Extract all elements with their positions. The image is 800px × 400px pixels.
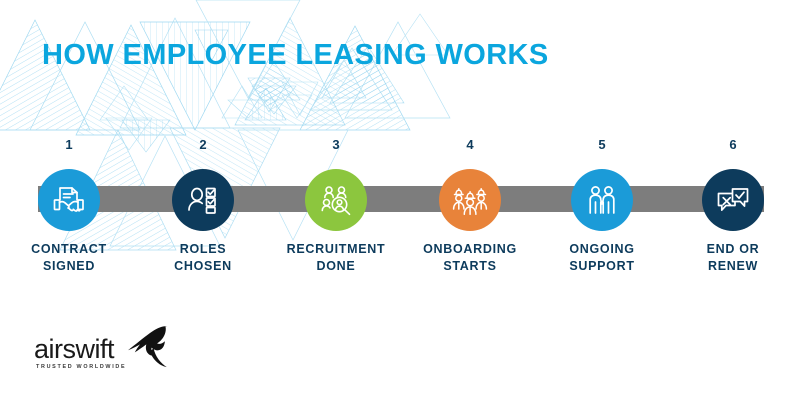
- step-icon-circle[interactable]: [571, 169, 633, 231]
- step-label-line2: CHOSEN: [133, 258, 273, 275]
- step-number: 3: [266, 138, 406, 152]
- process-step-3[interactable]: 3: [266, 138, 406, 275]
- step-label: ONGOING SUPPORT: [532, 241, 672, 275]
- step-label: END OR RENEW: [663, 241, 800, 275]
- step-label-line1: ONBOARDING: [400, 241, 540, 258]
- process-step-6[interactable]: 6 END OR RENEW: [663, 138, 800, 275]
- people-search-icon: [316, 180, 356, 220]
- step-label-line1: RECRUITMENT: [266, 241, 406, 258]
- step-number: 1: [0, 138, 139, 152]
- logo-wordmark: airswift: [34, 336, 114, 363]
- step-label-line2: DONE: [266, 258, 406, 275]
- step-label: ROLES CHOSEN: [133, 241, 273, 275]
- process-step-5[interactable]: 5 ONGOING: [532, 138, 672, 275]
- step-label-line2: SIGNED: [0, 258, 139, 275]
- step-icon-circle[interactable]: [38, 169, 100, 231]
- speech-bubbles-decision-icon: [713, 180, 753, 220]
- step-icon-circle[interactable]: [305, 169, 367, 231]
- infographic-canvas: HOW EMPLOYEE LEASING WORKS 1: [0, 0, 800, 400]
- step-number: 2: [133, 138, 273, 152]
- step-icon-circle[interactable]: [172, 169, 234, 231]
- airswift-logo[interactable]: airswift TRUSTED WORLDWIDE: [34, 328, 194, 380]
- step-number: 6: [663, 138, 800, 152]
- two-people-support-icon: [582, 180, 622, 220]
- swift-bird-icon: [112, 324, 174, 370]
- process-step-1[interactable]: 1: [0, 138, 139, 275]
- step-label: RECRUITMENT DONE: [266, 241, 406, 275]
- step-number: 5: [532, 138, 672, 152]
- step-number: 4: [400, 138, 540, 152]
- step-label: ONBOARDING STARTS: [400, 241, 540, 275]
- hardhat-workers-icon: [449, 179, 491, 221]
- step-icon-circle[interactable]: [439, 169, 501, 231]
- step-icon-circle[interactable]: [702, 169, 764, 231]
- step-label-line2: SUPPORT: [532, 258, 672, 275]
- step-label-line1: END OR: [663, 241, 800, 258]
- step-label-line1: ROLES: [133, 241, 273, 258]
- step-label-line2: RENEW: [663, 258, 800, 275]
- process-step-2[interactable]: 2 ROLES CHOSEN: [133, 138, 273, 275]
- step-label-line1: CONTRACT: [0, 241, 139, 258]
- step-label-line2: STARTS: [400, 258, 540, 275]
- step-label-line1: ONGOING: [532, 241, 672, 258]
- person-checklist-icon: [183, 180, 223, 220]
- step-label: CONTRACT SIGNED: [0, 241, 139, 275]
- contract-handshake-icon: [49, 180, 89, 220]
- process-step-4[interactable]: 4: [400, 138, 540, 275]
